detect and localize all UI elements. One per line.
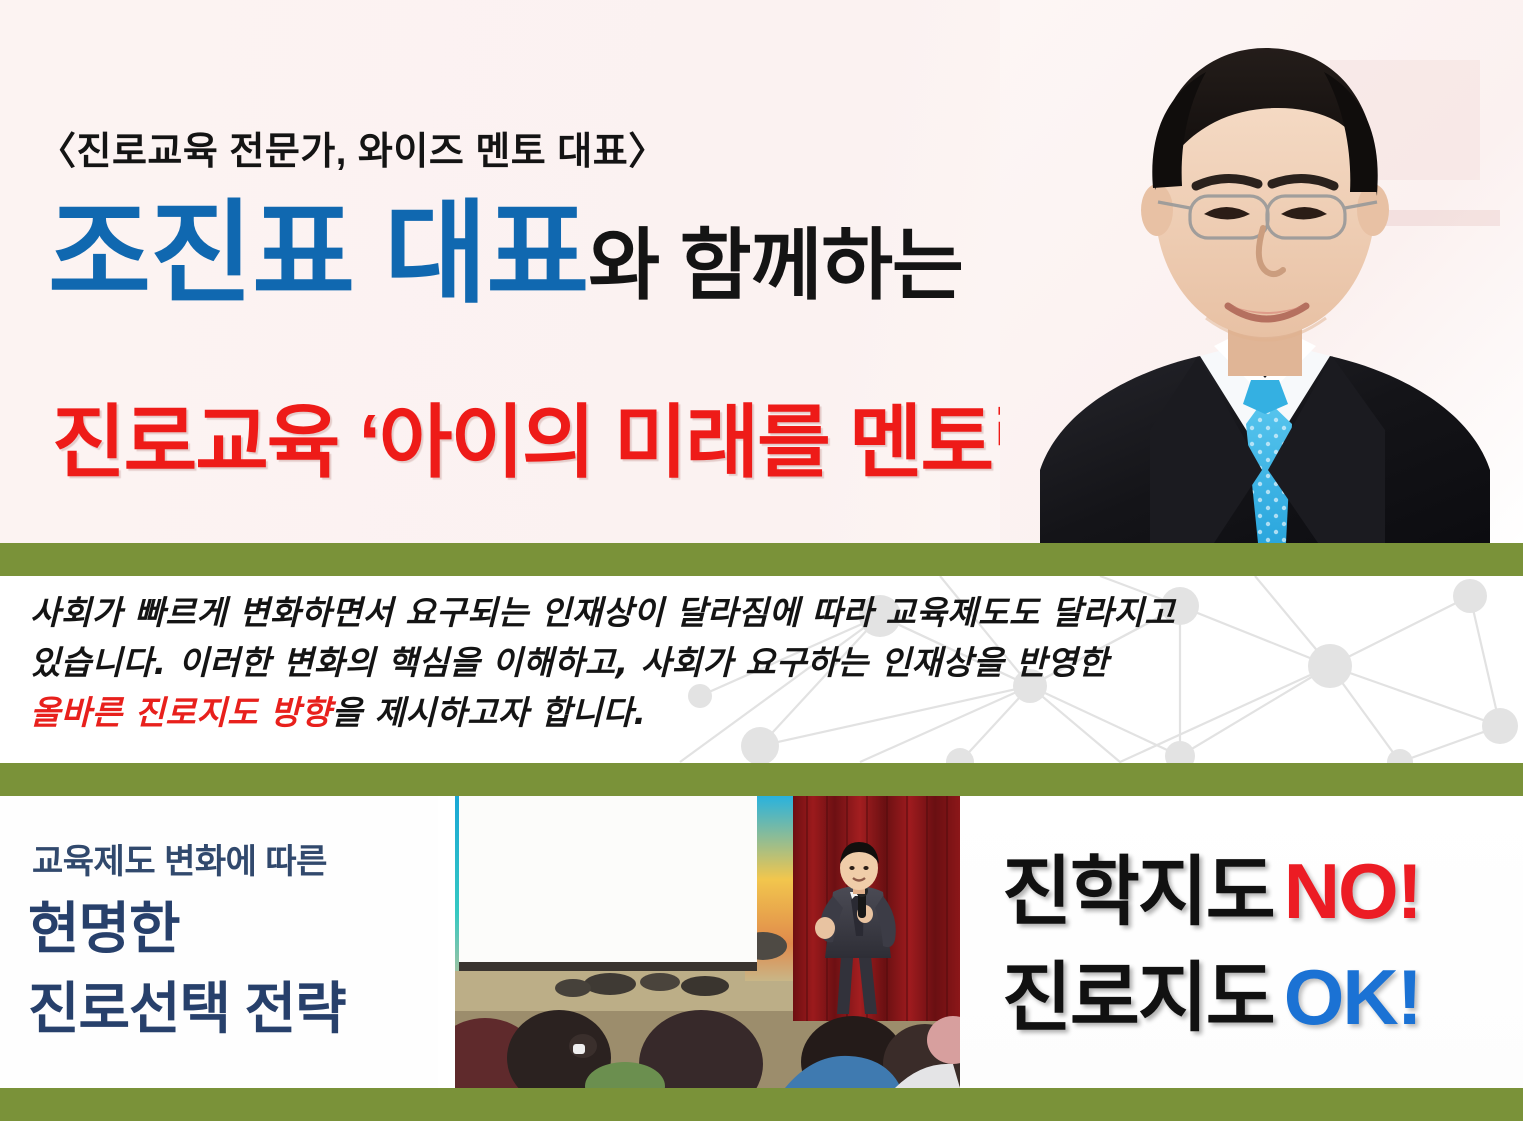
no-ok-slogan-panel: 진학지도NO! 진로지도OK!: [960, 796, 1523, 1088]
slogan-row2-korean: 진로지도: [1002, 956, 1274, 1041]
bottom-gallery-section: 교육제도 변화에 따른 현명한 진로선택 전략: [0, 796, 1523, 1088]
slogan-no-mark: NO!: [1284, 847, 1421, 935]
speaker-credential-kicker: 〈진로교육 전문가, 와이즈 멘토 대표〉: [38, 120, 667, 175]
body-line-1: 사회가 빠르게 변화하면서 요구되는 인재상이 달라짐에 따라 교육제도도 달라…: [30, 593, 1175, 632]
headline-tail: 와 함께하는: [588, 221, 962, 309]
body-description-section: 사회가 빠르게 변화하면서 요구되는 인재상이 달라짐에 따라 교육제도도 달라…: [0, 576, 1523, 763]
book-cover-line-1: 교육제도 변화에 따른: [32, 834, 327, 883]
body-line-2: 있습니다. 이러한 변화의 핵심을 이해하고, 사회가 요구하는 인재상을 반영…: [30, 643, 1109, 682]
slogan-ok-mark: OK!: [1284, 953, 1421, 1041]
body-paragraph: 사회가 빠르게 변화하면서 요구되는 인재상이 달라짐에 따라 교육제도도 달라…: [30, 588, 1460, 738]
hero-section: 〈진로교육 전문가, 와이즈 멘토 대표〉 조진표 대표와 함께하는 진로교육 …: [0, 0, 1523, 543]
lecture-photo-panel: [455, 796, 960, 1088]
body-line-3-rest: 을 제시하고자 합니다.: [332, 693, 647, 732]
slogan-row-no: 진학지도NO!: [1002, 830, 1421, 940]
headline-primary: 조진표 대표와 함께하는: [48, 198, 963, 310]
green-divider-bar-bottom: [0, 1088, 1523, 1121]
slogan-row1-korean: 진학지도: [1002, 850, 1274, 935]
lecture-photo-illustration: [455, 796, 960, 1088]
green-divider-bar-top: [0, 543, 1523, 576]
book-cover-line-2: 현명한: [28, 884, 180, 965]
green-divider-bar-middle: [0, 763, 1523, 796]
speaker-name: 조진표 대표: [48, 191, 588, 316]
slogan-row-ok: 진로지도OK!: [1002, 936, 1421, 1046]
poster-root: 〈진로교육 전문가, 와이즈 멘토 대표〉 조진표 대표와 함께하는 진로교육 …: [0, 0, 1523, 1121]
book-cover-line-3: 진로선택 전략: [28, 964, 346, 1045]
book-cover-panel: 교육제도 변화에 따른 현명한 진로선택 전략: [0, 796, 438, 1088]
speaker-portrait-photo: [1000, 0, 1523, 543]
body-line-3-highlight: 올바른 진로지도 방향: [30, 693, 332, 732]
